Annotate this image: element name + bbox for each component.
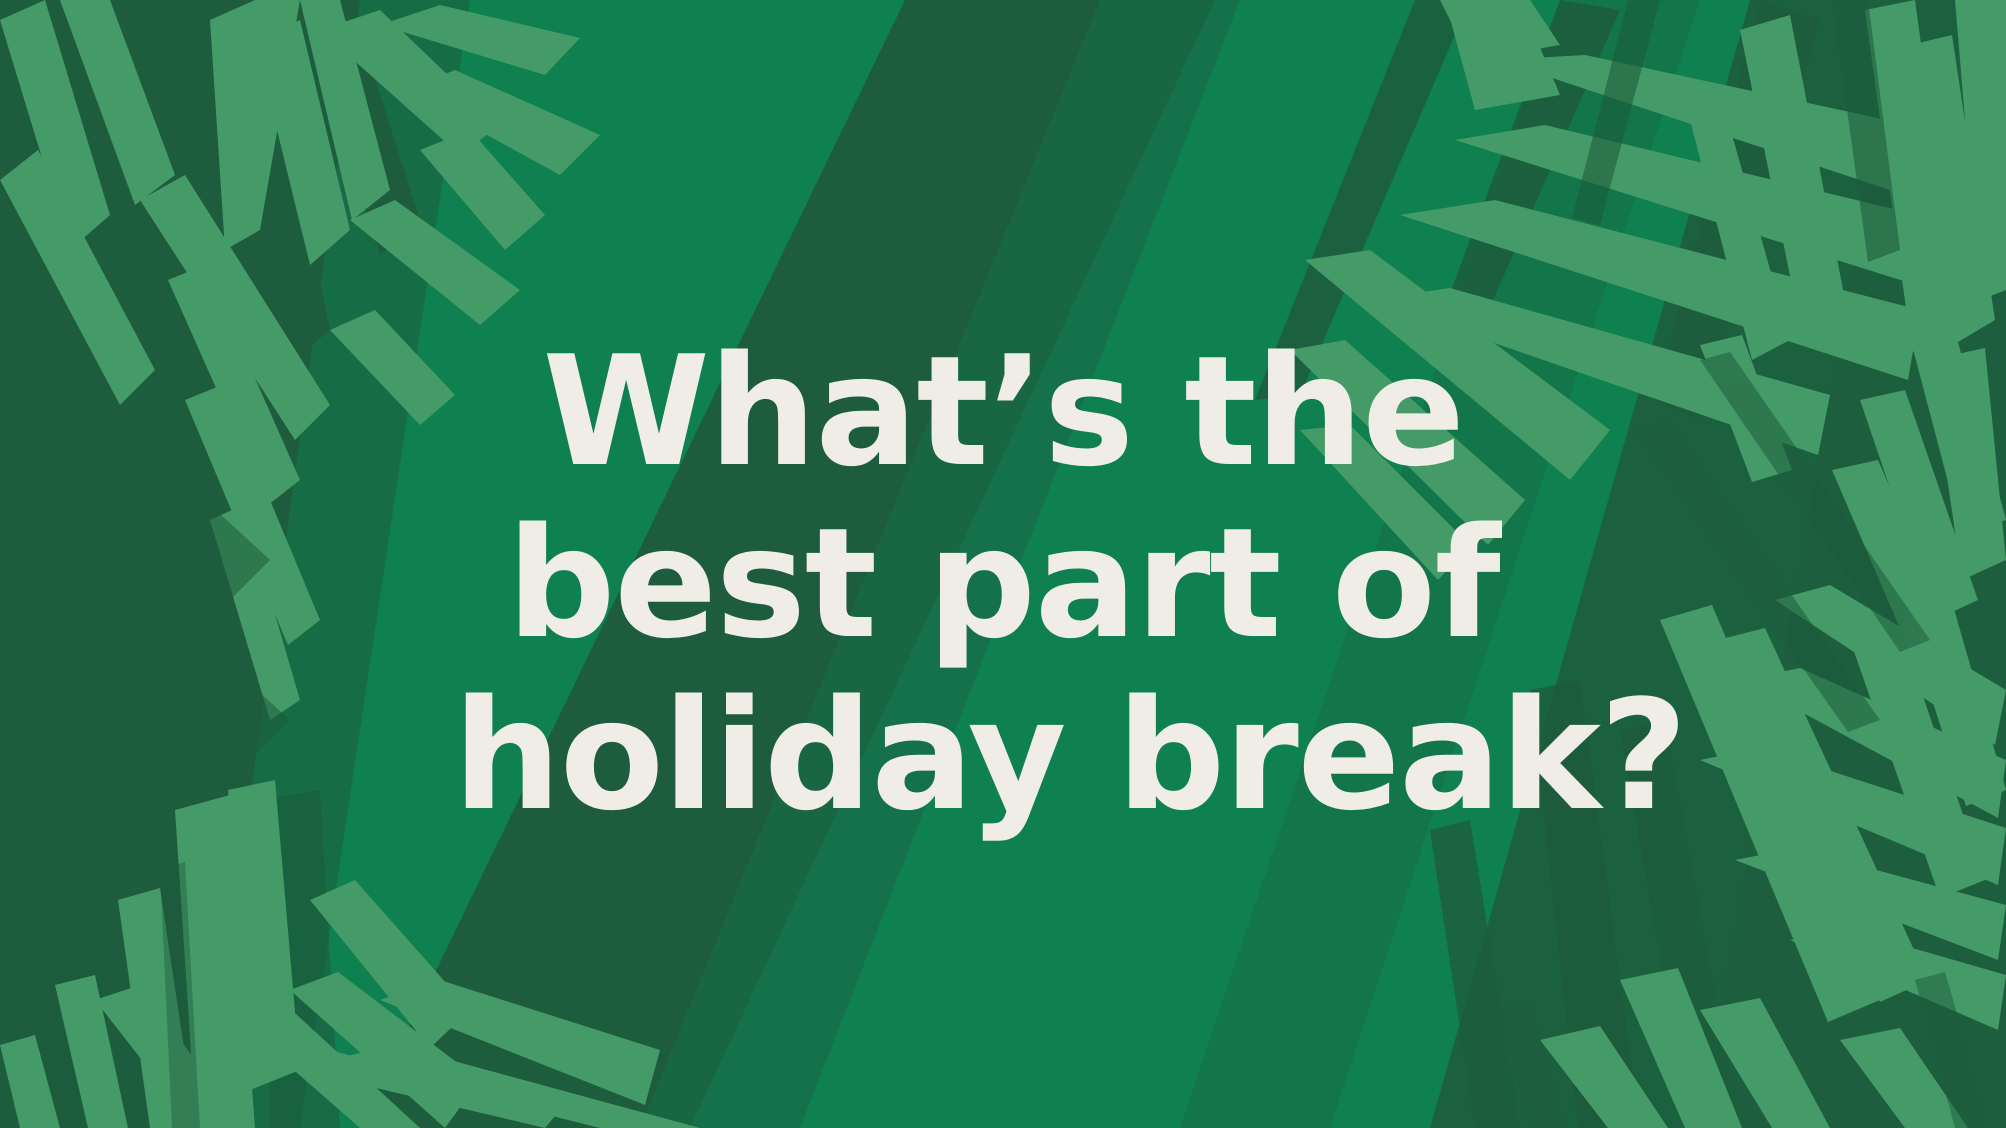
poster-canvas: What’s the best part of holiday break? bbox=[0, 0, 2006, 1128]
pine-branch-illustration bbox=[0, 0, 2006, 1128]
